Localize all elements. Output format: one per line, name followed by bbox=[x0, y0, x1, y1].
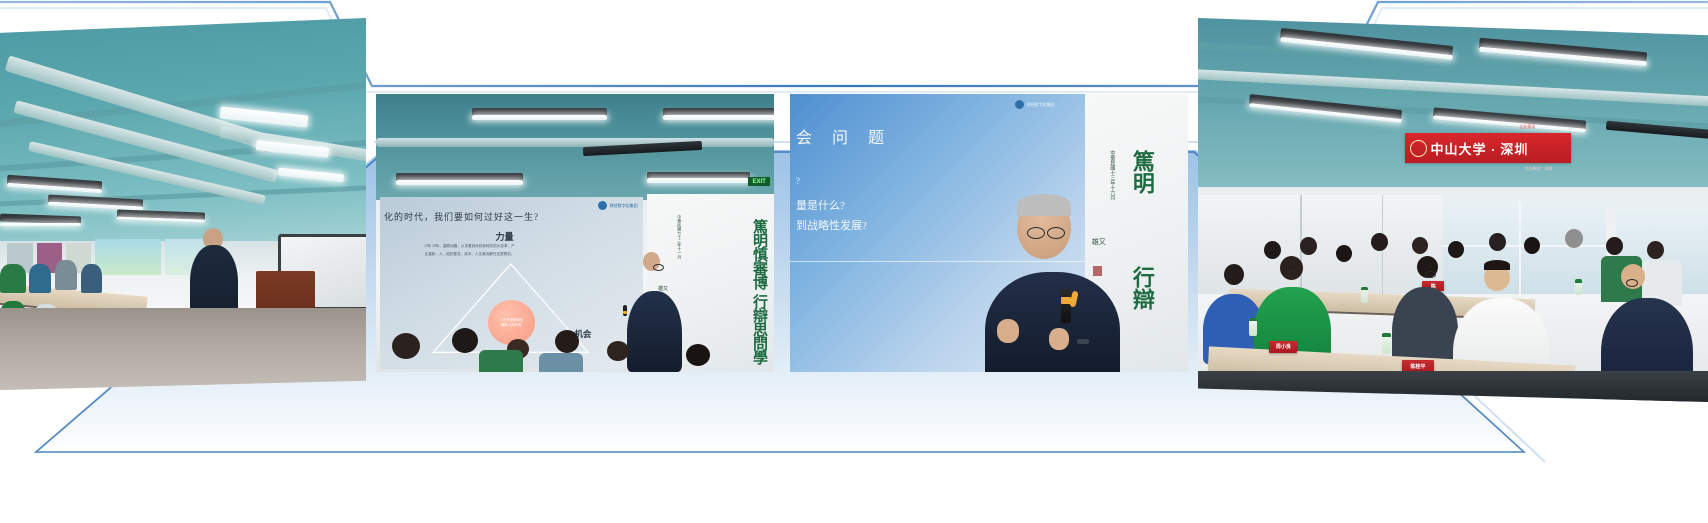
calligraphy-line-1: 篤明 bbox=[1126, 150, 1158, 194]
university-banner: 中山大学 · 深圳 bbox=[1405, 133, 1571, 163]
slide-logo: 财经数字化集团 bbox=[598, 201, 638, 210]
calligraphy-side-text: 中華民國七十三年十一月 bbox=[677, 215, 681, 259]
slide-center-label: 力量 bbox=[496, 230, 514, 243]
slide-heading: 化的时代，我们要如何过好这一生? bbox=[384, 210, 539, 223]
slide-logo-text: 财经数字化集团 bbox=[1027, 102, 1055, 107]
water-bottle bbox=[1382, 333, 1391, 354]
banner-sub-left: 企业家培 bbox=[1519, 124, 1535, 130]
slide-logo-text: 财经数字化集团 bbox=[610, 203, 638, 208]
logo-mark-icon bbox=[598, 201, 607, 210]
water-bottle bbox=[1249, 318, 1257, 336]
calligraphy-line-2: 行辯 bbox=[1126, 266, 1158, 310]
slide-line-2: 量是什么? bbox=[796, 197, 845, 213]
slide-body-line-1: (3年 20年、高瞻远瞩、从未看到危机和转折的大变革、产 bbox=[425, 244, 515, 249]
photo-classroom-left[interactable] bbox=[0, 18, 366, 390]
slide-line-1: ? bbox=[796, 176, 800, 186]
water-bottle bbox=[1575, 279, 1582, 295]
gallery-stage: EXIT 财经数字化集团 化的时代，我们要如何过好这一生? 力量 (3年 20年… bbox=[0, 0, 1708, 523]
slide-logo: 财经数字化集团 bbox=[1015, 100, 1055, 109]
slide-circle-label: 人才不是被淘汰 碾碎人间只有 bbox=[499, 318, 523, 327]
photo-audience-right[interactable]: 中山大学 · 深圳 企业家培 主办单位：深圳 陈 bbox=[1198, 18, 1708, 402]
banner-text: 中山大学 · 深圳 bbox=[1431, 139, 1529, 158]
slide-line-3: 到战略性发展? bbox=[796, 217, 867, 233]
photo-speaker-closeup[interactable]: 财经数字化集团 会 问 题 ? 量是什么? 到战略性发展? 篤明 行辯 中華民國… bbox=[790, 94, 1188, 372]
banner-sub-right: 主办单位：深圳 bbox=[1524, 166, 1552, 172]
slide-body-line-2: 业重新、人、组织要变、成本、人生最优解在这里看到。 bbox=[425, 252, 515, 257]
water-bottle bbox=[1361, 287, 1368, 303]
exit-sign-label: EXIT bbox=[752, 179, 765, 185]
name-card: 周小良 bbox=[1269, 341, 1297, 353]
university-seal-icon bbox=[1410, 140, 1427, 157]
calligraphy-line-1: 篤明慎審博 bbox=[749, 219, 770, 289]
calligraphy-line-2: 行辯思問學 bbox=[749, 294, 770, 364]
calligraphy-side-text: 中華民國十三年十六月 bbox=[1109, 150, 1114, 200]
calligraphy-signature: 雄又 bbox=[1092, 239, 1106, 246]
microphone-icon bbox=[1061, 289, 1071, 323]
exit-sign-icon: EXIT bbox=[748, 177, 770, 186]
logo-mark-icon bbox=[1015, 100, 1024, 109]
photo-lecture-slide[interactable]: EXIT 财经数字化集团 化的时代，我们要如何过好这一生? 力量 (3年 20年… bbox=[376, 94, 774, 372]
slide-heading: 会 问 题 bbox=[796, 124, 892, 148]
